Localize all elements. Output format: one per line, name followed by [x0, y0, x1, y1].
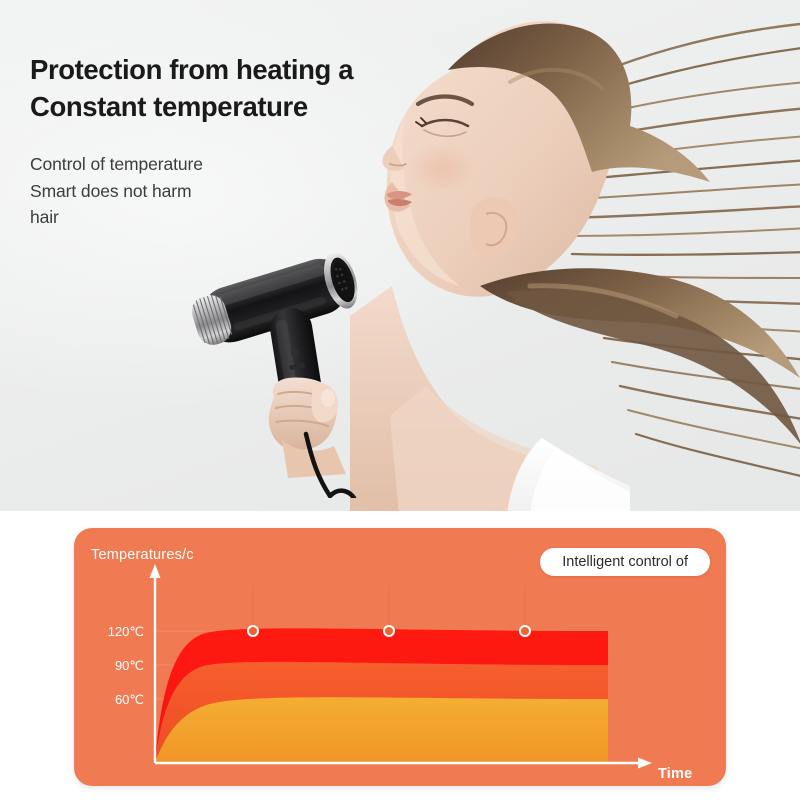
subtitle-line-3: hair [30, 204, 430, 231]
title-line-1: Protection from heating a [30, 52, 430, 89]
x-axis-title: Time [658, 766, 692, 782]
x-axis-arrow [638, 758, 652, 769]
chart-plot-area [74, 528, 726, 786]
hero-text-block: Protection from heating a Constant tempe… [30, 52, 430, 231]
marker-point-3 [520, 626, 530, 636]
hair-dryer-illustration [178, 248, 378, 498]
hair-dryer-product [178, 248, 378, 498]
temperature-chart-panel: Temperatures/c Intelligent control of [74, 528, 726, 786]
y-axis-arrow [150, 564, 161, 578]
subtitle-line-2: Smart does not harm [30, 178, 430, 205]
marker-point-1 [248, 626, 258, 636]
y-tick-label-60: 60℃ [80, 692, 144, 708]
series-area-60 [155, 697, 608, 763]
y-tick-label-90: 90℃ [80, 658, 144, 674]
marker-point-2 [384, 626, 394, 636]
y-tick-label-120: 120℃ [80, 624, 144, 640]
page-subtitle: Control of temperature Smart does not ha… [30, 151, 430, 231]
hero-photo-panel: Protection from heating a Constant tempe… [0, 0, 800, 511]
title-line-2: Constant temperature [30, 89, 430, 126]
page-title: Protection from heating a Constant tempe… [30, 52, 430, 125]
subtitle-line-1: Control of temperature [30, 151, 430, 178]
